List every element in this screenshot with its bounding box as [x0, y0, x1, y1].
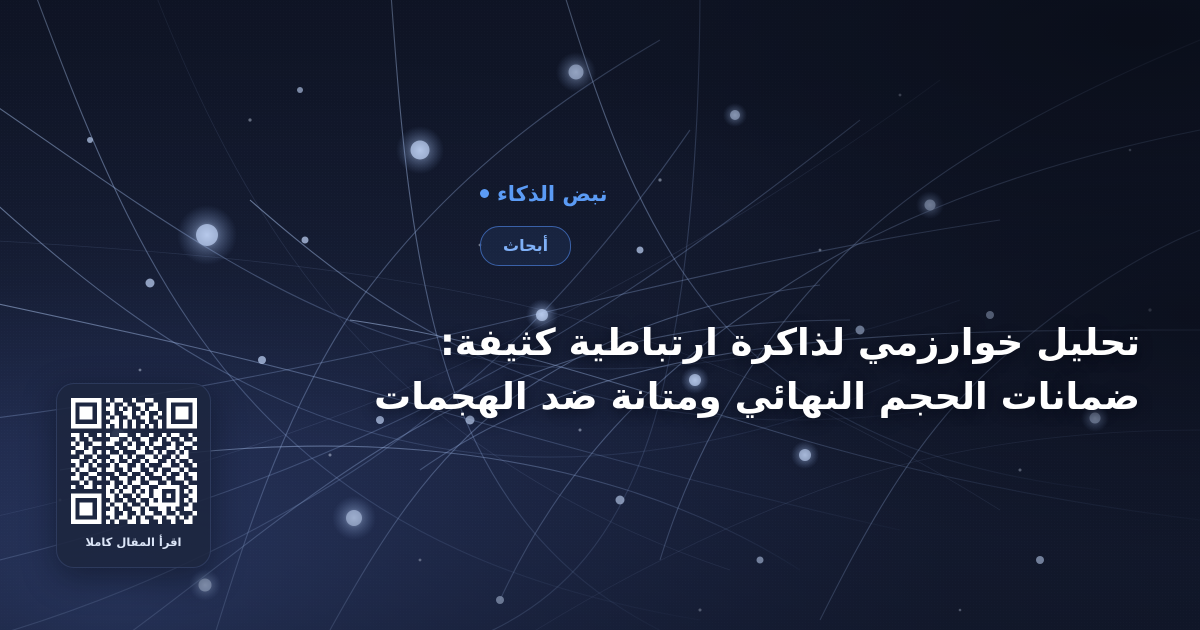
brand-name: نبض الذكاء — [497, 182, 607, 206]
page-title: تحليل خوارزمي لذاكرة ارتباطية كثيفة: ضما… — [480, 316, 1140, 423]
social-share-card: نبض الذكاء أبحاث تحليل خوارزمي لذاكرة ار… — [0, 0, 1200, 630]
qr-card[interactable]: اقرأ المقال كاملا — [56, 383, 211, 568]
category-badge-label: أبحاث — [503, 236, 548, 255]
content-column: نبض الذكاء أبحاث تحليل خوارزمي لذاكرة ار… — [480, 0, 1200, 630]
brand-logo: نبض الذكاء — [480, 182, 607, 206]
qr-caption: اقرأ المقال كاملا — [86, 535, 182, 549]
brand-dot-icon — [480, 189, 489, 198]
qr-code[interactable] — [71, 398, 197, 524]
title-line-2: ضمانات الحجم النهائي ومتانة ضد الهجمات — [480, 370, 1140, 424]
category-badge: أبحاث — [480, 226, 571, 266]
title-line-1: تحليل خوارزمي لذاكرة ارتباطية كثيفة: — [480, 316, 1140, 370]
